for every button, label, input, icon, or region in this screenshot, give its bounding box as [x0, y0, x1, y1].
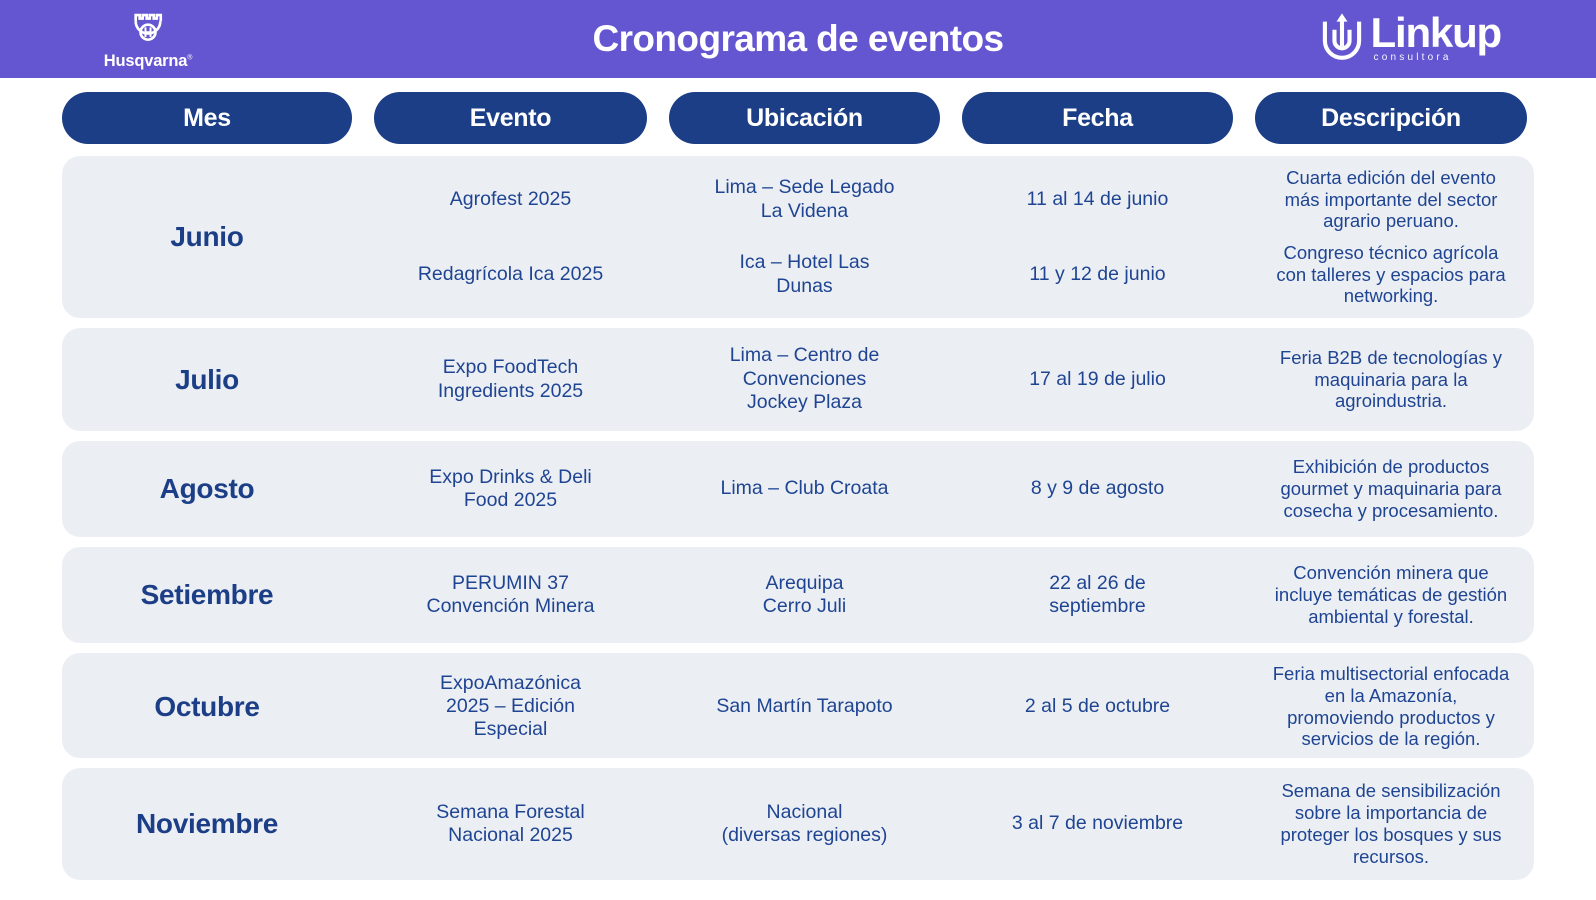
ubicacion-value: Ica – Hotel Las Dunas: [675, 237, 934, 312]
col-gap: [352, 156, 374, 318]
cell-evento: ExpoAmazónica 2025 – Edición Especial: [374, 653, 647, 760]
cell-fecha: 17 al 19 de julio: [962, 328, 1233, 431]
cell-evento: Expo Drinks & Deli Food 2025: [374, 441, 647, 537]
events-schedule-table: Mes Evento Ubicación Fecha Descripción J…: [0, 78, 1596, 900]
evento-value: Redagrícola Ica 2025: [380, 237, 641, 312]
fecha-value: 22 al 26 de septiembre: [1039, 553, 1156, 637]
column-header-ubicacion[interactable]: Ubicación: [669, 92, 940, 144]
descripcion-value: Feria multisectorial enfocada en la Amaz…: [1261, 659, 1521, 754]
cell-descripcion: Convención minera que incluye temáticas …: [1255, 547, 1527, 643]
header-gap-3: [940, 92, 962, 144]
header-gap-2: [647, 92, 669, 144]
husqvarna-crown-icon: [126, 8, 170, 52]
table-row[interactable]: Junio Agrofest 2025 Redagrícola Ica 2025…: [62, 156, 1534, 318]
fecha-value: 17 al 19 de julio: [1019, 334, 1176, 425]
table-row[interactable]: Octubre ExpoAmazónica 2025 – Edición Esp…: [62, 653, 1534, 758]
ubicacion-list: Lima – Sede Legado La Videna Ica – Hotel…: [675, 162, 934, 312]
ubicacion-value: Nacional (diversas regiones): [712, 774, 898, 874]
col-gap: [940, 653, 962, 760]
evento-value: ExpoAmazónica 2025 – Edición Especial: [430, 659, 591, 754]
cell-evento: Expo FoodTech Ingredients 2025: [374, 328, 647, 431]
cell-ubicacion: Arequipa Cerro Juli: [669, 547, 940, 643]
cell-mes: Agosto: [62, 441, 352, 537]
cell-fecha: 8 y 9 de agosto: [962, 441, 1233, 537]
descripcion-value: Exhibición de productos gourmet y maquin…: [1261, 447, 1521, 531]
month-label: Julio: [175, 364, 239, 396]
linkup-wordmark: Linkup: [1371, 13, 1501, 53]
descripcion-list: Cuarta edición del evento más importante…: [1261, 162, 1521, 312]
ubicacion-value: Lima – Sede Legado La Videna: [675, 162, 934, 237]
cell-ubicacion: Lima – Sede Legado La Videna Ica – Hotel…: [669, 156, 940, 318]
table-row[interactable]: Agosto Expo Drinks & Deli Food 2025 Lima…: [62, 441, 1534, 537]
column-header-mes[interactable]: Mes: [62, 92, 352, 144]
col-gap: [1233, 768, 1255, 880]
cell-fecha: 3 al 7 de noviembre: [962, 768, 1233, 880]
col-gap: [940, 441, 962, 537]
col-gap: [647, 328, 669, 431]
page-header-banner: Husqvarna® Cronograma de eventos Linkup …: [0, 0, 1596, 78]
col-gap: [1233, 547, 1255, 643]
linkup-subtitle: consultora: [1374, 53, 1452, 63]
col-gap: [1233, 328, 1255, 431]
cell-fecha: 11 al 14 de junio 11 y 12 de junio: [962, 156, 1233, 318]
month-label: Setiembre: [141, 579, 274, 611]
month-label: Octubre: [154, 691, 259, 723]
fecha-value: 2 al 5 de octubre: [1015, 659, 1180, 754]
descripcion-value: Congreso técnico agrícola con talleres y…: [1261, 237, 1521, 312]
evento-value: Expo Drinks & Deli Food 2025: [419, 447, 602, 531]
descripcion-value: Convención minera que incluye temáticas …: [1261, 553, 1521, 637]
cell-fecha: 22 al 26 de septiembre: [962, 547, 1233, 643]
header-gap-4: [1233, 92, 1255, 144]
cell-ubicacion: Nacional (diversas regiones): [669, 768, 940, 880]
linkup-arrow-u-icon: [1317, 12, 1367, 64]
cell-ubicacion: Lima – Centro de Convenciones Jockey Pla…: [669, 328, 940, 431]
column-header-descripcion[interactable]: Descripción: [1255, 92, 1527, 144]
ubicacion-value: Lima – Centro de Convenciones Jockey Pla…: [720, 334, 890, 425]
husqvarna-logo: Husqvarna®: [93, 6, 203, 72]
cell-ubicacion: Lima – Club Croata: [669, 441, 940, 537]
cell-descripcion: Cuarta edición del evento más importante…: [1255, 156, 1527, 318]
cell-descripcion: Exhibición de productos gourmet y maquin…: [1255, 441, 1527, 537]
descripcion-value: Semana de sensibilización sobre la impor…: [1261, 774, 1521, 874]
table-header-row: Mes Evento Ubicación Fecha Descripción: [62, 92, 1534, 144]
cell-evento: PERUMIN 37 Convención Minera: [374, 547, 647, 643]
col-gap: [647, 156, 669, 318]
cell-mes: Noviembre: [62, 768, 352, 880]
cell-descripcion: Semana de sensibilización sobre la impor…: [1255, 768, 1527, 880]
table-row[interactable]: Setiembre PERUMIN 37 Convención Minera A…: [62, 547, 1534, 643]
cell-mes: Setiembre: [62, 547, 352, 643]
fecha-value: 11 y 12 de junio: [968, 237, 1227, 312]
col-gap: [940, 328, 962, 431]
month-label: Noviembre: [136, 808, 278, 840]
evento-value: Semana Forestal Nacional 2025: [426, 774, 595, 874]
cell-descripcion: Feria multisectorial enfocada en la Amaz…: [1255, 653, 1527, 760]
table-row[interactable]: Noviembre Semana Forestal Nacional 2025 …: [62, 768, 1534, 880]
col-gap: [647, 547, 669, 643]
col-gap: [647, 441, 669, 537]
col-gap: [940, 768, 962, 880]
col-gap: [352, 328, 374, 431]
month-label: Junio: [170, 221, 243, 253]
cell-evento: Semana Forestal Nacional 2025: [374, 768, 647, 880]
header-gap-1: [352, 92, 374, 144]
fecha-value: 11 al 14 de junio: [968, 162, 1227, 237]
cell-fecha: 2 al 5 de octubre: [962, 653, 1233, 760]
husqvarna-wordmark: Husqvarna®: [104, 53, 192, 70]
col-gap: [647, 653, 669, 760]
cell-mes: Julio: [62, 328, 352, 431]
descripcion-value: Feria B2B de tecnologías y maquinaria pa…: [1261, 334, 1521, 425]
fecha-value: 3 al 7 de noviembre: [1002, 774, 1193, 874]
cell-evento: Agrofest 2025 Redagrícola Ica 2025: [374, 156, 647, 318]
evento-value: Agrofest 2025: [380, 162, 641, 237]
fecha-value: 8 y 9 de agosto: [1021, 447, 1174, 531]
col-gap: [1233, 156, 1255, 318]
cell-mes: Junio: [62, 156, 352, 318]
col-gap: [1233, 441, 1255, 537]
col-gap: [647, 768, 669, 880]
col-gap: [352, 441, 374, 537]
cell-descripcion: Feria B2B de tecnologías y maquinaria pa…: [1255, 328, 1527, 431]
month-label: Agosto: [160, 473, 255, 505]
ubicacion-value: Arequipa Cerro Juli: [753, 553, 856, 637]
column-header-evento[interactable]: Evento: [374, 92, 647, 144]
col-gap: [940, 156, 962, 318]
table-row[interactable]: Julio Expo FoodTech Ingredients 2025 Lim…: [62, 328, 1534, 431]
col-gap: [352, 547, 374, 643]
linkup-logo: Linkup consultora: [1317, 12, 1501, 64]
cell-ubicacion: San Martín Tarapoto: [669, 653, 940, 760]
evento-list: Agrofest 2025 Redagrícola Ica 2025: [380, 162, 641, 312]
ubicacion-value: Lima – Club Croata: [711, 447, 899, 531]
cell-mes: Octubre: [62, 653, 352, 760]
fecha-list: 11 al 14 de junio 11 y 12 de junio: [968, 162, 1227, 312]
linkup-arrowhead: [1336, 13, 1347, 21]
descripcion-value: Cuarta edición del evento más importante…: [1261, 162, 1521, 237]
evento-value: PERUMIN 37 Convención Minera: [416, 553, 604, 637]
col-gap: [940, 547, 962, 643]
col-gap: [352, 768, 374, 880]
col-gap: [1233, 653, 1255, 760]
husqvarna-trademark: ®: [187, 55, 192, 62]
column-header-fecha[interactable]: Fecha: [962, 92, 1233, 144]
evento-value: Expo FoodTech Ingredients 2025: [428, 334, 593, 425]
ubicacion-value: San Martín Tarapoto: [706, 659, 902, 754]
col-gap: [352, 653, 374, 760]
